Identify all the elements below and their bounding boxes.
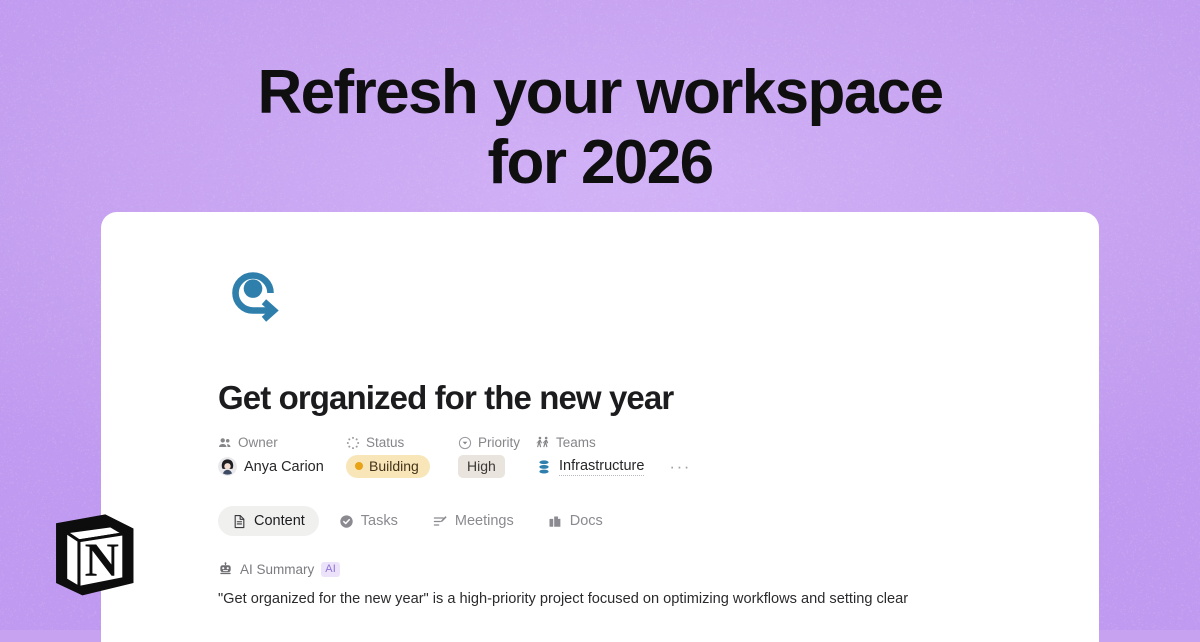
tab-content[interactable]: Content xyxy=(218,506,319,536)
two-people-icon xyxy=(536,436,550,450)
status-dot-icon xyxy=(355,462,363,470)
circle-chevron-icon xyxy=(458,436,472,450)
ai-badge: AI xyxy=(321,562,340,577)
tab-docs[interactable]: Docs xyxy=(534,506,617,536)
property-value-priority[interactable]: High xyxy=(458,455,536,478)
property-value-teams[interactable]: Infrastructure ··· xyxy=(536,458,1069,476)
notion-letter: N xyxy=(85,535,119,587)
property-value-status[interactable]: Building xyxy=(346,455,458,478)
property-label-status: Status xyxy=(346,435,458,450)
status-badge[interactable]: Building xyxy=(346,455,430,478)
property-label-priority: Priority xyxy=(458,435,536,450)
headline-line-2: for 2026 xyxy=(0,128,1200,198)
property-label-text: Priority xyxy=(478,435,520,450)
more-options-button[interactable]: ··· xyxy=(669,462,690,472)
document-title: Get organized for the new year xyxy=(218,378,1069,418)
property-label-text: Teams xyxy=(556,435,596,450)
property-label-owner: Owner xyxy=(218,435,346,450)
refresh-target-icon xyxy=(218,258,288,328)
dotted-circle-icon xyxy=(346,436,360,450)
notion-cube-icon: N xyxy=(49,509,137,599)
ai-summary-header: AI Summary AI xyxy=(218,562,1069,577)
document-icon xyxy=(232,514,247,529)
team-name: Infrastructure xyxy=(559,458,644,476)
owner-name: Anya Carion xyxy=(244,459,324,475)
property-label-teams: Teams xyxy=(536,435,1069,450)
priority-badge[interactable]: High xyxy=(458,455,505,478)
page-title: Refresh your workspace for 2026 xyxy=(0,58,1200,198)
ai-summary-text: "Get organized for the new year" is a hi… xyxy=(218,588,978,610)
robot-icon xyxy=(218,562,233,577)
docs-stack-icon xyxy=(548,514,563,529)
tab-meetings[interactable]: Meetings xyxy=(418,506,528,536)
preview-card: Get organized for the new year Owner xyxy=(101,212,1099,642)
tab-label: Content xyxy=(254,513,305,529)
property-label-text: Owner xyxy=(238,435,278,450)
status-text: Building xyxy=(369,458,419,474)
database-icon xyxy=(536,459,552,475)
list-pencil-icon xyxy=(432,514,448,529)
tab-label: Tasks xyxy=(361,513,398,529)
property-value-owner[interactable]: Anya Carion xyxy=(218,457,346,476)
headline-line-1: Refresh your workspace xyxy=(258,58,943,127)
property-label-text: Status xyxy=(366,435,404,450)
property-grid: Owner Status Priority xyxy=(218,435,1069,478)
tab-bar: Content Tasks Meetings xyxy=(218,506,1069,536)
tab-tasks[interactable]: Tasks xyxy=(325,506,412,536)
ai-summary-label: AI Summary xyxy=(240,562,314,577)
tab-label: Docs xyxy=(570,513,603,529)
avatar xyxy=(218,457,237,476)
people-icon xyxy=(218,436,232,450)
tab-label: Meetings xyxy=(455,513,514,529)
check-circle-icon xyxy=(339,514,354,529)
